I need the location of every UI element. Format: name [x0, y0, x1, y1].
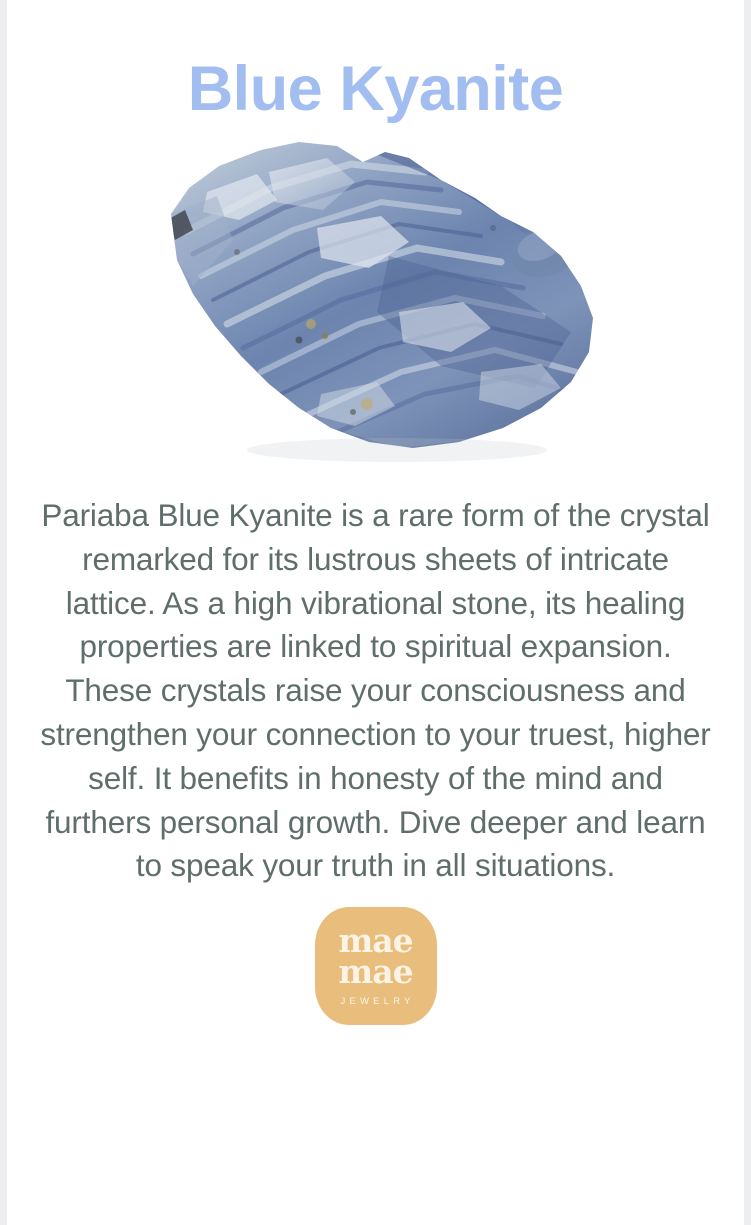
crystal-description: Pariaba Blue Kyanite is a rare form of t… — [40, 472, 712, 888]
brand-logo-word-line-2: mae — [338, 957, 412, 987]
brand-logo-badge[interactable]: mae mae JEWELRY — [315, 907, 437, 1025]
brand-logo[interactable]: mae mae JEWELRY — [313, 906, 438, 1026]
page-title: Blue Kyanite — [188, 0, 564, 122]
brand-logo-subtitle: JEWELRY — [336, 996, 414, 1007]
kyanite-crystal-illustration — [141, 136, 611, 472]
crystal-info-card: Blue Kyanite — [7, 0, 744, 1225]
kyanite-crystal-image — [141, 136, 611, 472]
